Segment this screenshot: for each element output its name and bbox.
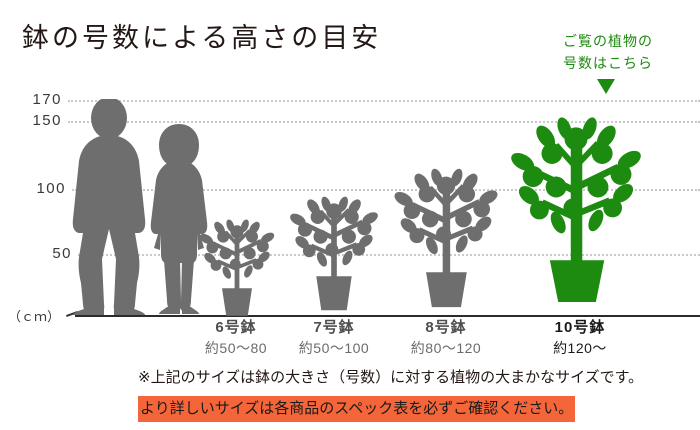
axis-tick-100: 100 bbox=[0, 180, 66, 197]
pot-label-8-range: 約80〜120 bbox=[388, 338, 504, 358]
height-chart: 170 150 100 50 （ｃｍ） bbox=[0, 0, 700, 360]
note-highlighted: より詳しいサイズは各商品のスペック表を必ずご確認ください。 bbox=[138, 396, 575, 422]
axis-unit-label: （ｃｍ） bbox=[8, 306, 60, 325]
pot-label-7: 7号鉢 約50〜100 bbox=[276, 318, 392, 358]
pot-label-10-name: 10号鉢 bbox=[518, 318, 642, 338]
pot-label-10-range: 約120〜 bbox=[518, 338, 642, 358]
axis-tick-170: 170 bbox=[0, 91, 62, 108]
pot-label-8: 8号鉢 約80〜120 bbox=[388, 318, 504, 358]
infographic-root: 鉢の号数による高さの目安 ご覧の植物の 号数はこちら 170 150 100 5… bbox=[0, 0, 700, 430]
pot-label-7-range: 約50〜100 bbox=[276, 338, 392, 358]
axis-tick-50: 50 bbox=[0, 245, 72, 262]
pot-label-10: 10号鉢 約120〜 bbox=[518, 318, 642, 358]
pot-label-7-name: 7号鉢 bbox=[276, 318, 392, 338]
note-general: ※上記のサイズは鉢の大きさ（号数）に対する植物の大まかなサイズです。 bbox=[138, 367, 643, 389]
gridline-170 bbox=[68, 100, 700, 102]
pot-label-8-name: 8号鉢 bbox=[388, 318, 504, 338]
axis-tick-150: 150 bbox=[0, 112, 62, 129]
human-figure-male bbox=[70, 99, 148, 360]
